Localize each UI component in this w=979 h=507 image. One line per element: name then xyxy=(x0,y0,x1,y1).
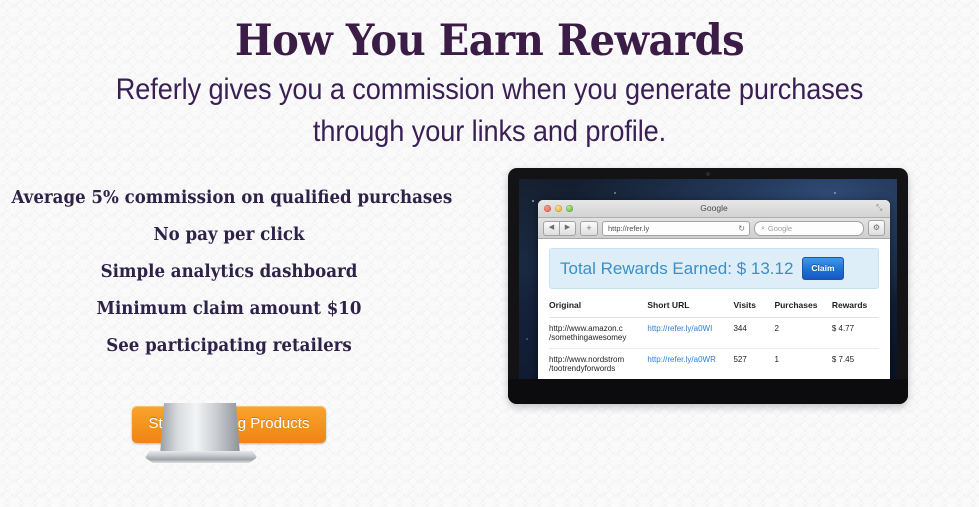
monitor-mockup: Google ⤡ ◀ ▶ + http://refer.ly ↻ ⌕ Googl… xyxy=(508,168,908,404)
monitor-chin xyxy=(508,379,908,404)
monitor-screen: Google ⤡ ◀ ▶ + http://refer.ly ↻ ⌕ Googl… xyxy=(519,179,897,379)
search-placeholder: Google xyxy=(768,224,792,233)
column-header-purchases: Purchases xyxy=(774,300,831,318)
back-icon[interactable]: ◀ xyxy=(543,221,559,236)
original-url-line1: http://www.nordstrom xyxy=(549,355,624,364)
total-rewards-label: Total Rewards Earned: $ 13.12 xyxy=(560,259,793,279)
new-tab-icon[interactable]: + xyxy=(580,221,598,236)
table-row: http://www.nordstrom /tootrendyforwords … xyxy=(549,349,879,380)
hero-subtitle-line2: through your links and profile. xyxy=(39,108,940,150)
cell-visits: 344 xyxy=(733,318,774,349)
column-header-original: Original xyxy=(549,300,647,318)
cell-short-url: http://refer.ly/a0WR xyxy=(647,349,733,380)
traffic-lights[interactable] xyxy=(544,205,573,212)
dashboard-page: Total Rewards Earned: $ 13.12 Claim Orig… xyxy=(538,239,890,379)
short-url-link[interactable]: http://refer.ly/a0WR xyxy=(647,355,715,364)
cell-rewards: $ 4.77 xyxy=(832,318,879,349)
browser-window: Google ⤡ ◀ ▶ + http://refer.ly ↻ ⌕ Googl… xyxy=(538,200,890,379)
monitor-stand-neck xyxy=(160,403,240,455)
table-header-row: Original Short URL Visits Purchases Rewa… xyxy=(549,300,879,318)
zoom-icon[interactable] xyxy=(566,205,573,212)
original-url-line2: /tootrendyforwords xyxy=(549,364,641,373)
cell-purchases: 2 xyxy=(774,318,831,349)
original-url-line2: /somethingawesomey xyxy=(549,333,641,342)
browser-titlebar: Google ⤡ xyxy=(538,200,890,218)
claim-button[interactable]: Claim xyxy=(802,257,843,280)
original-url-line1: http://www.amazon.c xyxy=(549,324,623,333)
reload-icon[interactable]: ↻ xyxy=(738,224,745,233)
table-body: http://www.amazon.c /somethingawesomey h… xyxy=(549,318,879,380)
webcam-icon xyxy=(706,172,710,176)
short-url-link[interactable]: http://refer.ly/a0WI xyxy=(647,324,712,333)
cell-visits: 527 xyxy=(733,349,774,380)
table-row: http://www.amazon.c /somethingawesomey h… xyxy=(549,318,879,349)
column-header-rewards: Rewards xyxy=(832,300,879,318)
monitor-stand-base xyxy=(145,451,257,463)
benefit-item: See participating retailers xyxy=(11,328,446,365)
cell-original: http://www.amazon.c /somethingawesomey xyxy=(549,318,647,349)
cell-rewards: $ 7.45 xyxy=(832,349,879,380)
search-icon: ⌕ xyxy=(761,224,765,233)
page-title: How You Earn Rewards xyxy=(34,0,944,66)
rewards-banner: Total Rewards Earned: $ 13.12 Claim xyxy=(549,248,879,289)
benefit-item: Minimum claim amount $10 xyxy=(11,291,446,328)
nav-button-group: ◀ ▶ xyxy=(543,221,576,236)
minimize-icon[interactable] xyxy=(555,205,562,212)
cell-short-url: http://refer.ly/a0WI xyxy=(647,318,733,349)
column-header-visits: Visits xyxy=(733,300,774,318)
column-header-short-url: Short URL xyxy=(647,300,733,318)
hero-subtitle-line1: Referly gives you a commission when you … xyxy=(39,66,940,108)
cell-original: http://www.nordstrom /tootrendyforwords xyxy=(549,349,647,380)
links-table: Original Short URL Visits Purchases Rewa… xyxy=(549,300,879,379)
close-icon[interactable] xyxy=(544,205,551,212)
benefit-item: No pay per click xyxy=(11,217,446,254)
cell-purchases: 1 xyxy=(774,349,831,380)
address-bar-value: http://refer.ly xyxy=(608,224,649,233)
table-head: Original Short URL Visits Purchases Rewa… xyxy=(549,300,879,318)
gear-icon[interactable]: ⚙ xyxy=(868,220,885,236)
hero-header: How You Earn Rewards Referly gives you a… xyxy=(0,0,979,150)
benefit-item: Average 5% commission on qualified purch… xyxy=(11,180,446,217)
benefits-list: Average 5% commission on qualified purch… xyxy=(0,180,458,365)
address-bar[interactable]: http://refer.ly ↻ xyxy=(602,221,750,236)
fullscreen-icon[interactable]: ⤡ xyxy=(876,204,884,212)
search-input[interactable]: ⌕ Google xyxy=(754,221,864,236)
browser-toolbar: ◀ ▶ + http://refer.ly ↻ ⌕ Google ⚙ xyxy=(538,218,890,239)
benefit-item: Simple analytics dashboard xyxy=(11,254,446,291)
forward-icon[interactable]: ▶ xyxy=(559,221,576,236)
browser-window-title: Google xyxy=(538,200,890,217)
